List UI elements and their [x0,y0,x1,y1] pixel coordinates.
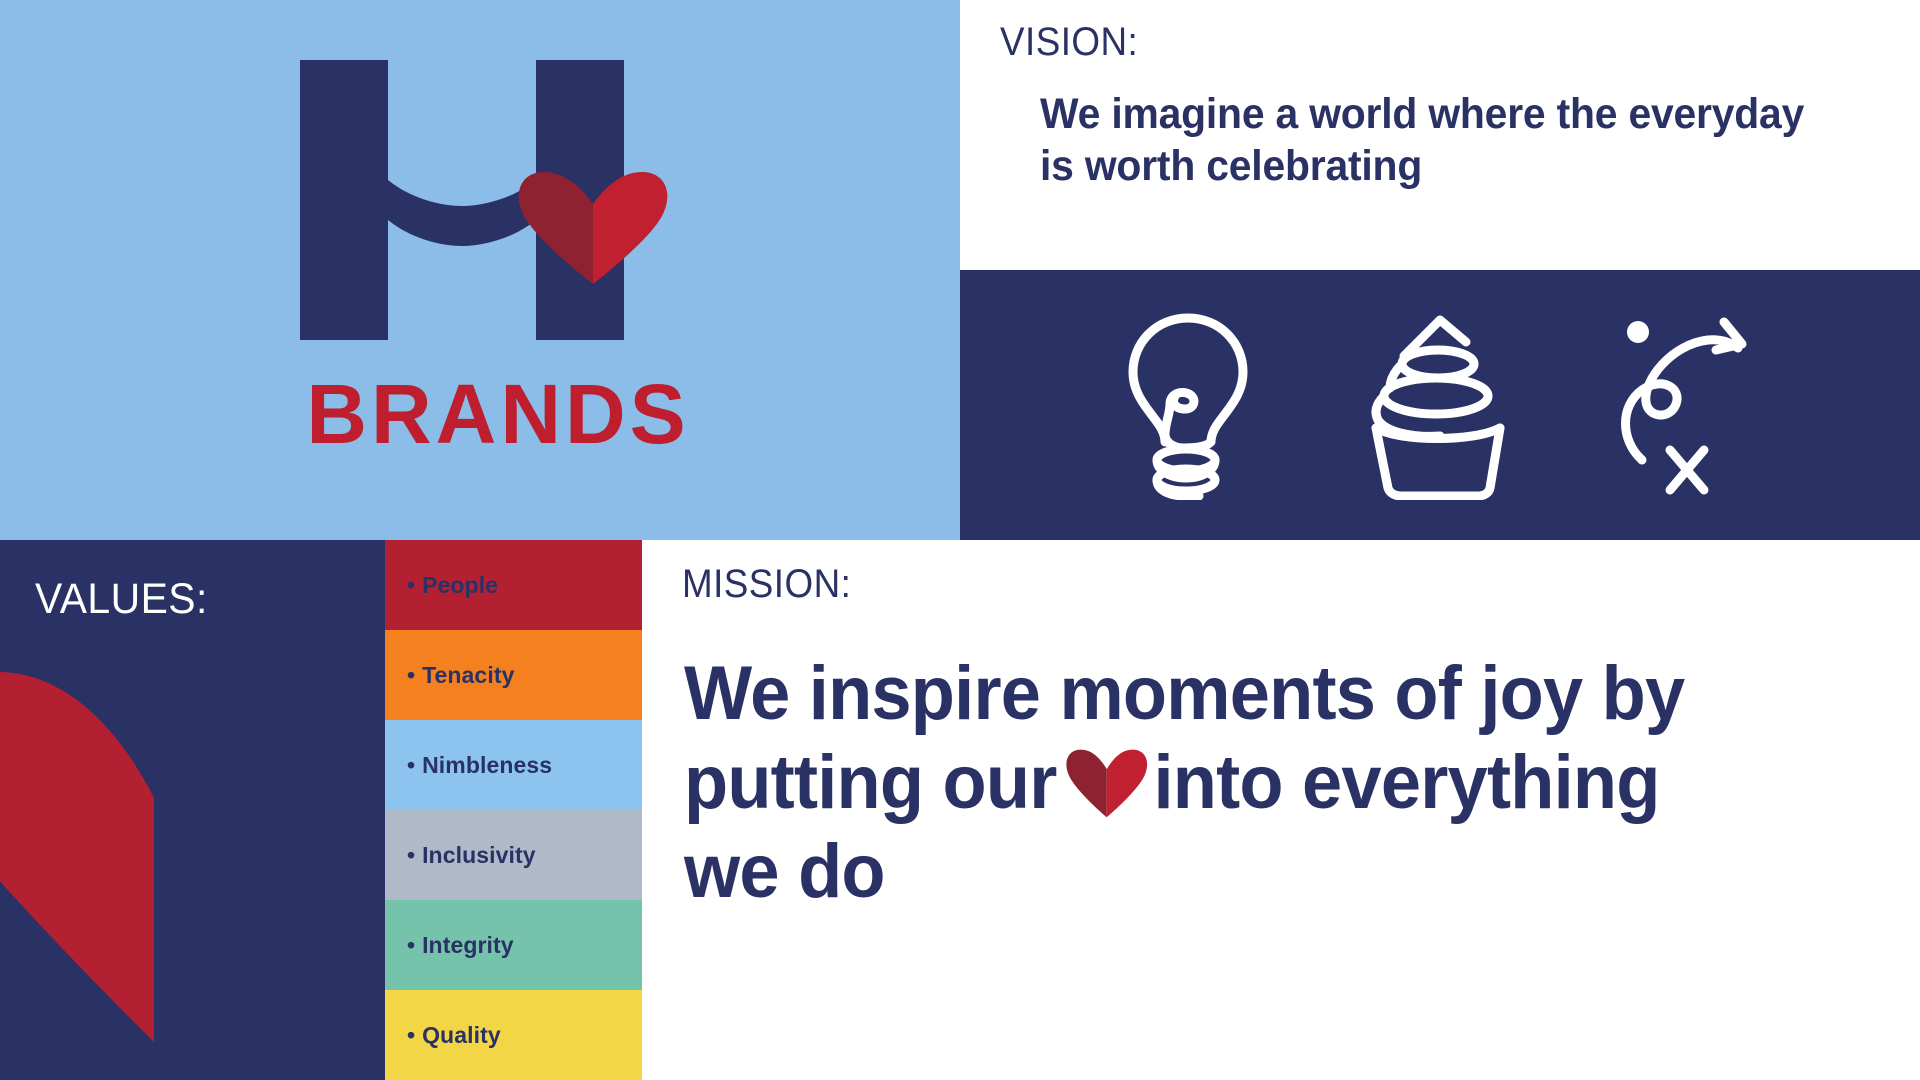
mission-panel: MISSION: We inspire moments of joy by pu… [642,540,1920,1080]
vision-panel: VISION: We imagine a world where the eve… [960,0,1920,270]
value-label: Quality [422,1022,501,1049]
value-band-people[interactable]: • People [385,540,642,630]
mission-label: MISSION: [682,562,851,607]
heart-right-lobe [1107,750,1147,818]
value-band-inclusivity[interactable]: • Inclusivity [385,810,642,900]
value-bullet: • [407,662,415,689]
half-heart-icon [0,650,162,1050]
logo-h-heart-mark [290,60,670,340]
strategy-icon [1612,310,1772,500]
value-bullet: • [407,842,415,869]
value-band-integrity[interactable]: • Integrity [385,900,642,990]
value-label: Inclusivity [422,842,536,869]
vision-statement: We imagine a world where the everyday is… [1040,88,1848,193]
icon-slot-cupcake [1350,310,1530,500]
icons-strip [960,270,1920,540]
value-label: Integrity [422,932,514,959]
brand-wordmark: BRANDS [0,372,960,456]
logo-panel: BRANDS [0,0,960,540]
brand-board: BRANDS VISION: We imagine a world where … [0,0,1920,1080]
value-label: People [422,572,498,599]
value-bullet: • [407,1022,415,1049]
values-panel: VALUES: [0,540,385,1080]
vision-label: VISION: [1000,20,1138,65]
values-list: • People • Tenacity • Nimbleness • Inclu… [385,540,642,1080]
heart-left-lobe [1067,750,1107,818]
value-label: Nimbleness [422,752,552,779]
value-label: Tenacity [422,662,514,689]
icon-slot-strategy [1602,310,1782,500]
value-band-nimbleness[interactable]: • Nimbleness [385,720,642,810]
lightbulb-icon [1113,310,1263,500]
value-bullet: • [407,932,415,959]
logo-lockup: BRANDS [0,0,960,540]
values-label: VALUES: [35,575,208,624]
value-band-tenacity[interactable]: • Tenacity [385,630,642,720]
value-bullet: • [407,572,415,599]
heart-icon [1066,748,1148,820]
value-band-quality[interactable]: • Quality [385,990,642,1080]
value-bullet: • [407,752,415,779]
icon-slot-lightbulb [1098,310,1278,500]
mission-statement: We inspire moments of joy by putting our… [684,650,1758,917]
cupcake-icon [1360,310,1520,500]
